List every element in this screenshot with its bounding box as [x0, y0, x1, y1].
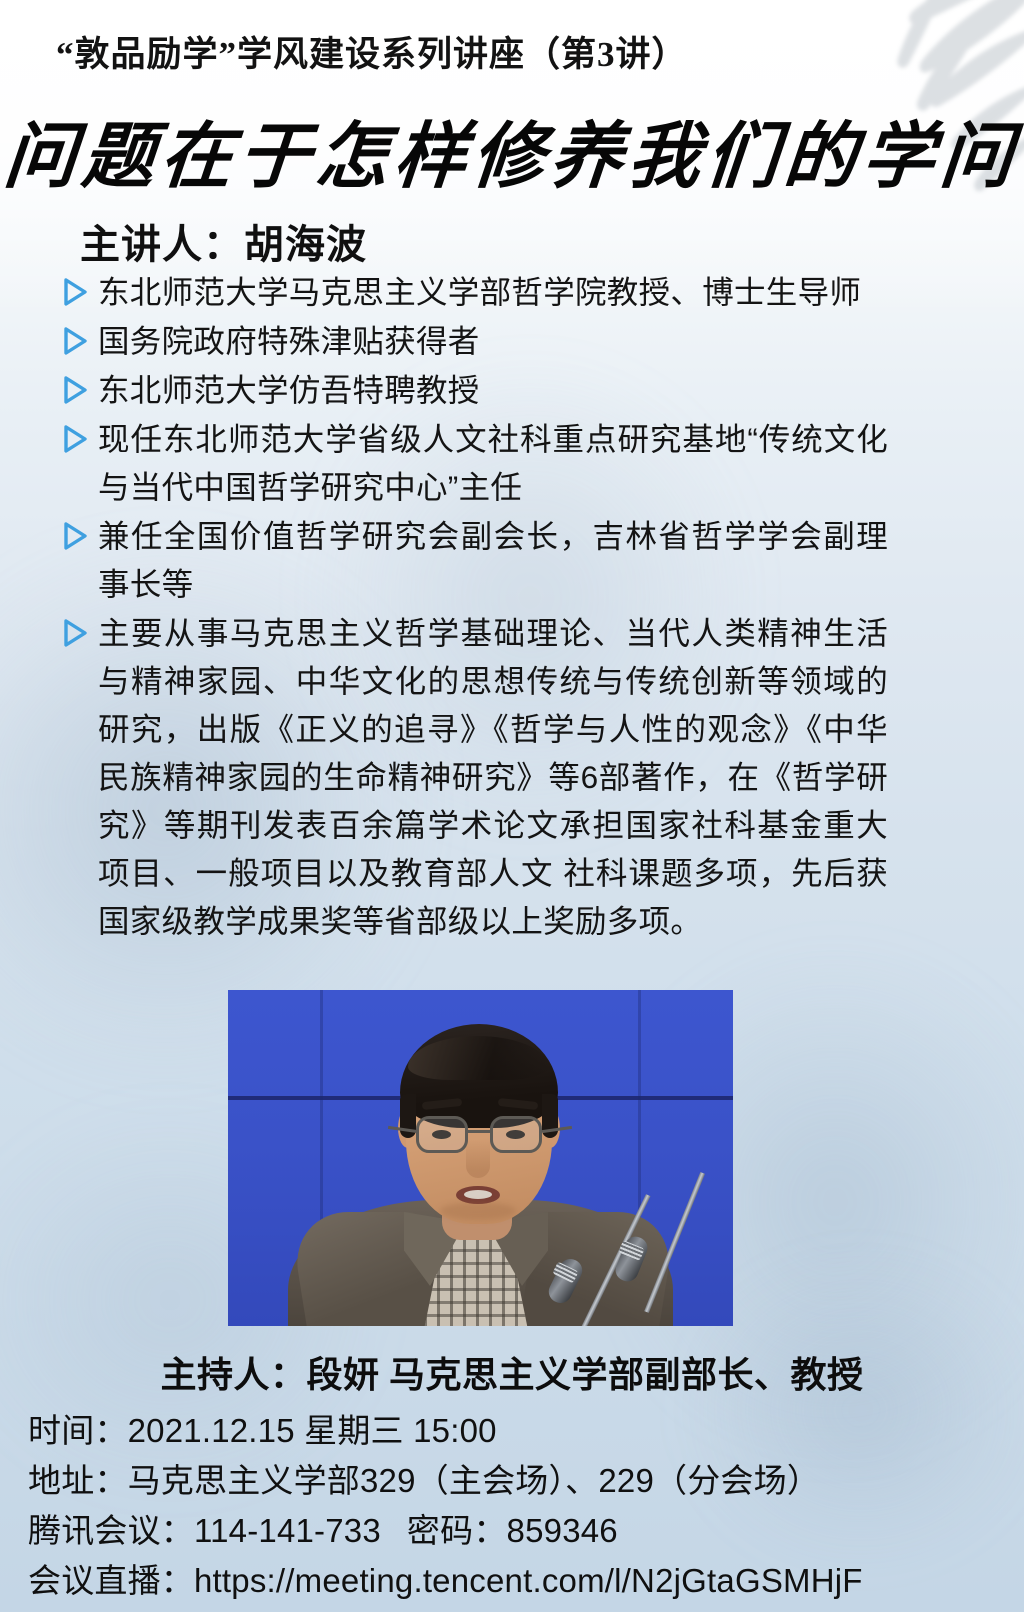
live-url[interactable]: https://meeting.tencent.com/l/N2jGtaGSMH…: [194, 1562, 863, 1599]
event-info: 时间：2021.12.15 星期三 15:00 地址：马克思主义学部329（主会…: [28, 1406, 1003, 1606]
bio-item: 东北师范大学马克思主义学部哲学院教授、博士生导师: [58, 268, 888, 316]
figure-chin-shadow: [440, 1202, 516, 1220]
bio-item-text: 兼任全国价值哲学研究会副会长，吉林省哲学学会副理事长等: [98, 518, 888, 602]
speaker-bio-list: 东北师范大学马克思主义学部哲学院教授、博士生导师 国务院政府特殊津贴获得者 东北…: [58, 268, 888, 946]
meeting-id: 114-141-733: [194, 1512, 381, 1549]
speaker-photo: [228, 990, 733, 1326]
info-meeting-row: 腾讯会议：114-141-733密码：859346: [28, 1506, 1003, 1556]
address-value: 马克思主义学部329（主会场）、229（分会场）: [128, 1462, 820, 1499]
triangle-bullet-icon: [62, 618, 88, 648]
bio-item: 兼任全国价值哲学研究会副会长，吉林省哲学学会副理事长等: [58, 512, 888, 608]
live-label: 会议直播：: [28, 1562, 194, 1599]
triangle-bullet-icon: [62, 424, 88, 454]
glasses-lens-left: [416, 1116, 468, 1153]
address-label: 地址：: [28, 1462, 128, 1499]
bio-item-text: 东北师范大学仿吾特聘教授: [98, 372, 480, 408]
triangle-bullet-icon: [62, 521, 88, 551]
figure-nose: [466, 1140, 490, 1178]
triangle-bullet-icon: [62, 277, 88, 307]
info-time-row: 时间：2021.12.15 星期三 15:00: [28, 1406, 1003, 1456]
page-title: 问题在于怎样修养我们的学问: [0, 97, 1024, 202]
bio-item: 主要从事马克思主义哲学基础理论、当代人类精神生活与精神家园、中华文化的思想传统与…: [58, 609, 888, 945]
info-address-row: 地址：马克思主义学部329（主会场）、229（分会场）: [28, 1456, 1003, 1506]
info-live-row: 会议直播：https://meeting.tencent.com/l/N2jGt…: [28, 1556, 1003, 1606]
time-label: 时间：: [28, 1412, 128, 1449]
password-value: 859346: [507, 1512, 618, 1549]
lecture-poster: “敦品励学”学风建设系列讲座（第3讲） 问题在于怎样修养我们的学问 主讲人：胡海…: [0, 0, 1024, 1612]
series-subtitle: “敦品励学”学风建设系列讲座（第3讲）: [56, 26, 688, 77]
triangle-bullet-icon: [62, 375, 88, 405]
bio-item-text: 现任东北师范大学省级人文社科重点研究基地“传统文化与当代中国哲学研究中心”主任: [98, 421, 888, 505]
host-line: 主持人：段妍 马克思主义学部副部长、教授: [0, 1346, 1024, 1398]
bio-item-text: 主要从事马克思主义哲学基础理论、当代人类精神生活与精神家园、中华文化的思想传统与…: [98, 615, 888, 939]
speaker-heading: 主讲人：胡海波: [80, 212, 367, 270]
bio-item: 现任东北师范大学省级人文社科重点研究基地“传统文化与当代中国哲学研究中心”主任: [58, 415, 888, 511]
time-value: 2021.12.15 星期三 15:00: [128, 1412, 497, 1449]
meeting-label: 腾讯会议：: [28, 1512, 194, 1549]
triangle-bullet-icon: [62, 326, 88, 356]
glasses-bridge: [468, 1130, 490, 1133]
bio-item: 国务院政府特殊津贴获得者: [58, 317, 888, 365]
figure-teeth: [464, 1190, 492, 1199]
bio-item-text: 东北师范大学马克思主义学部哲学院教授、博士生导师: [98, 274, 861, 310]
password-label: 密码：: [407, 1512, 507, 1549]
bio-item-text: 国务院政府特殊津贴获得者: [98, 323, 480, 359]
bio-item: 东北师范大学仿吾特聘教授: [58, 366, 888, 414]
glasses-lens-right: [490, 1116, 542, 1153]
